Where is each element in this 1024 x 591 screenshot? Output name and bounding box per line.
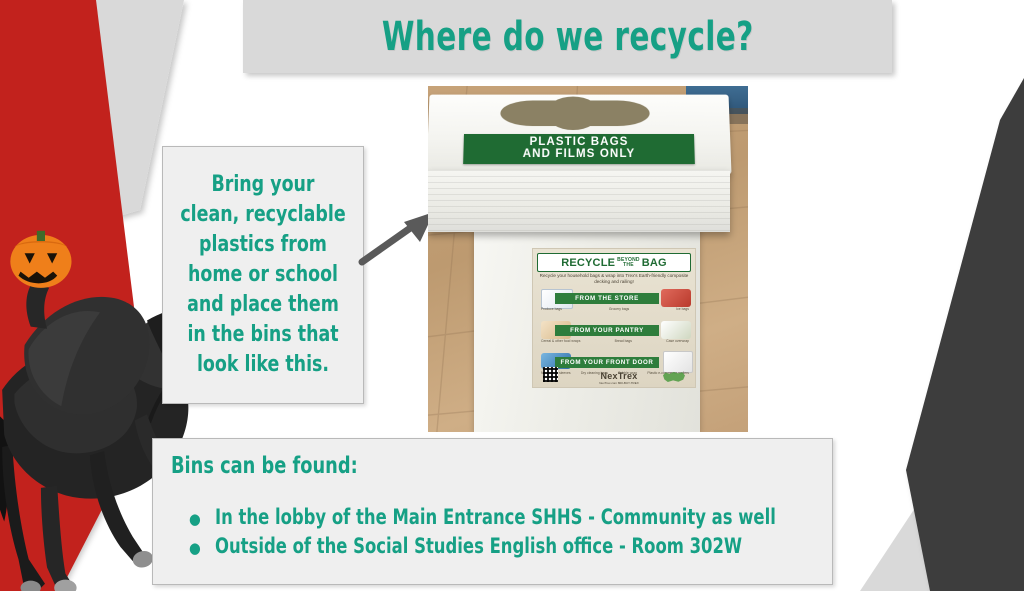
poster-title-recycle: RECYCLE <box>561 257 615 269</box>
horse-standing-leg <box>41 486 76 590</box>
pointer-arrow-icon <box>358 208 438 270</box>
deco-red-chevron-left <box>0 0 148 591</box>
deco-dark-chevron-right <box>906 78 1024 591</box>
poster-title-bag: BAG <box>642 257 667 269</box>
poster-brand-name: NexTrex <box>600 371 637 381</box>
poster-thumb-store-right <box>661 289 691 307</box>
deco-red-chevron-left-fill <box>0 0 148 591</box>
callout-box: Bring your clean, recyclable plastics fr… <box>162 146 364 404</box>
poster-section-heading-3: FROM YOUR FRONT DOOR <box>555 357 659 368</box>
list-item-label: In the lobby of the Main Entrance SHHS -… <box>215 503 776 532</box>
horse-haunch <box>14 360 137 454</box>
deco-gray-triangle-left <box>0 0 184 250</box>
jack-o-lantern-icon <box>10 231 71 288</box>
slide-canvas: Where do we recycle? Bring your clean, r… <box>0 0 1024 591</box>
poster-section-heading-2: FROM YOUR PANTRY <box>555 325 659 336</box>
qr-code-icon <box>543 367 558 382</box>
bin-lid: PLASTIC BAGS AND FILMS ONLY <box>428 95 732 175</box>
bullet-icon: ● <box>171 512 201 527</box>
bin-lid-label-line2: AND FILMS ONLY <box>523 149 636 161</box>
deco-gray-triangle-right <box>900 420 1024 591</box>
horse-tail <box>0 412 18 521</box>
bin-lid-label: PLASTIC BAGS AND FILMS ONLY <box>463 134 695 164</box>
bin-lid-ridges <box>428 170 730 232</box>
bullet-icon: ● <box>171 541 201 556</box>
deco-gray-triangle-right-2 <box>860 440 1024 591</box>
rider-cloak-fold <box>28 311 100 406</box>
bins-location-list: ● In the lobby of the Main Entrance SHHS… <box>171 503 814 560</box>
bin-body: RECYCLE BEYOND THE BAG Recycle your hous… <box>474 226 700 432</box>
rider-arm <box>26 282 49 329</box>
bin-lid-skirt <box>428 170 730 232</box>
poster-items-1: Produce bags Grocery bags Ice bags <box>541 307 689 311</box>
bin-lid-opening-circle <box>546 97 600 130</box>
horse-hoof-3 <box>54 580 76 591</box>
bins-location-heading: Bins can be found: <box>171 453 724 479</box>
list-item-label: Outside of the Social Studies English of… <box>215 532 742 561</box>
poster-thumb-door-right <box>663 351 693 373</box>
list-item: ● In the lobby of the Main Entrance SHHS… <box>171 503 814 532</box>
horse-hoof-4 <box>21 581 41 591</box>
poster-brand: NexTrex NexTrex.com 800-BUY-TREX <box>589 371 649 385</box>
recycling-bin-photo: RECYCLE BEYOND THE BAG Recycle your hous… <box>428 86 748 432</box>
title-box: Where do we recycle? <box>243 0 892 73</box>
poster-thumb-pantry-right <box>661 321 691 339</box>
list-item: ● Outside of the Social Studies English … <box>171 532 814 561</box>
poster-items-2: Cereal & other food wraps Bread bags Cas… <box>541 339 689 343</box>
page-title: Where do we recycle? <box>382 14 754 60</box>
poster-title: RECYCLE BEYOND THE BAG <box>537 253 691 272</box>
poster-subtitle: Recycle your household bags & wrap into … <box>539 273 689 285</box>
rider-cloak <box>24 297 149 415</box>
horse-front-leg-2 <box>90 451 145 563</box>
recycle-beyond-the-bag-poster: RECYCLE BEYOND THE BAG Recycle your hous… <box>532 248 696 388</box>
bins-location-box: Bins can be found: ● In the lobby of the… <box>152 438 833 585</box>
poster-title-beyond-the: BEYOND THE <box>617 258 640 268</box>
usa-map-icon <box>663 371 685 383</box>
poster-section-heading-1: FROM THE STORE <box>555 293 659 304</box>
poster-brand-sub: NexTrex.com 800-BUY-TREX <box>589 381 649 385</box>
callout-text: Bring your clean, recyclable plastics fr… <box>175 170 351 379</box>
horse-hind-leg <box>2 445 45 590</box>
